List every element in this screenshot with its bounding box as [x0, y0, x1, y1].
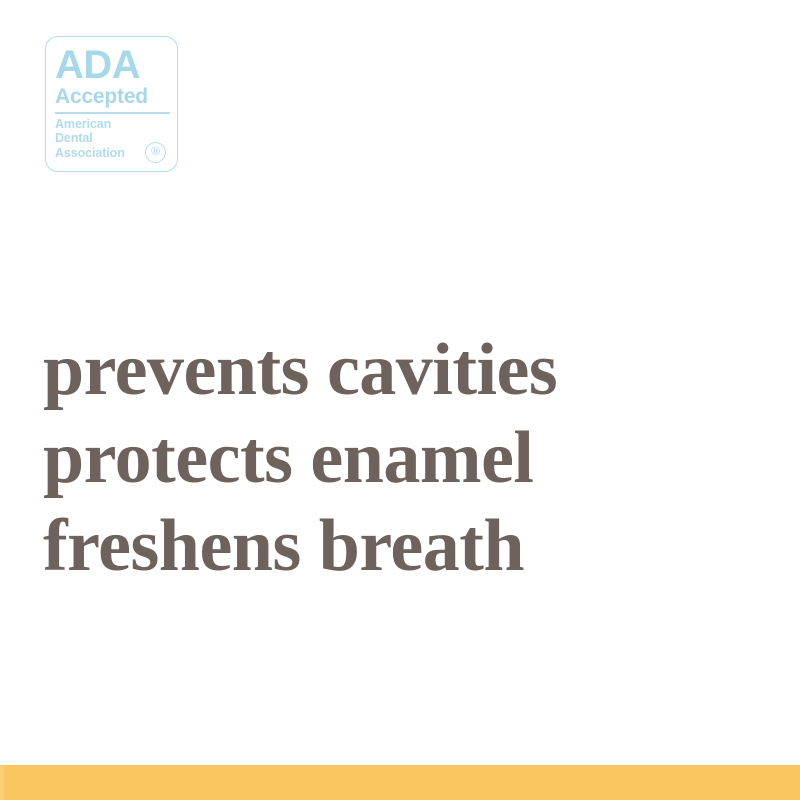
ada-seal-divider [55, 112, 170, 114]
claim-line-freshens-breath: freshens breath [43, 502, 743, 590]
claims-list: prevents cavities protects enamel freshe… [43, 326, 743, 590]
bottom-accent-bar [0, 765, 800, 800]
product-claims-panel: ADA Accepted American Dental Association… [0, 0, 800, 800]
accent-bar-left-edge [0, 765, 4, 800]
ada-seal-subtitle: Accepted [55, 85, 168, 108]
ada-seal-organization: American Dental Association ® [55, 117, 168, 165]
ada-accepted-seal: ADA Accepted American Dental Association… [45, 36, 178, 172]
registered-trademark-icon: ® [145, 142, 166, 163]
ada-seal-title: ADA [55, 45, 168, 85]
claim-line-protects-enamel: protects enamel [43, 414, 743, 502]
ada-seal-content: ADA Accepted American Dental Association… [46, 37, 177, 171]
claim-line-prevents-cavities: prevents cavities [43, 326, 743, 414]
ada-org-line-1: American [55, 117, 168, 132]
